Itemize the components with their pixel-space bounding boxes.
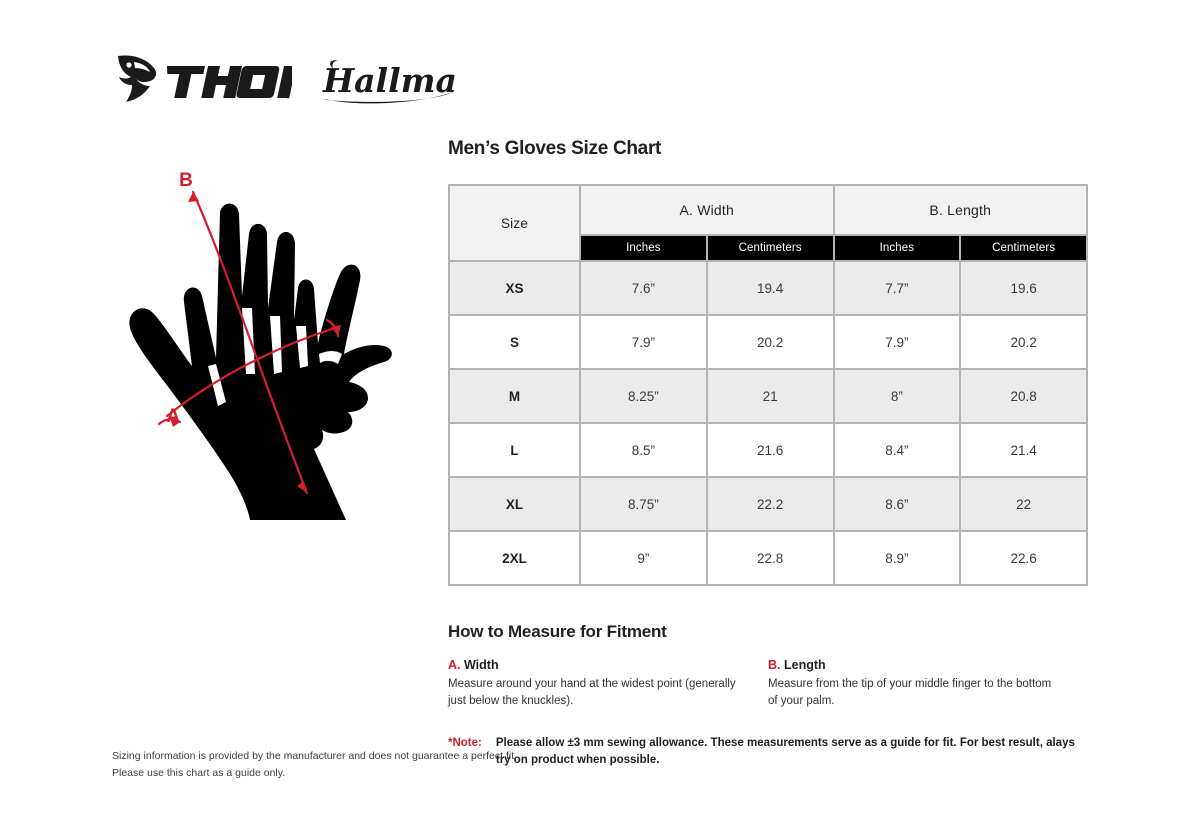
thor-helmet-icon xyxy=(118,56,156,103)
diagram-label-b: B xyxy=(179,170,193,191)
cell-length-centimeters: 20.2 xyxy=(960,315,1087,369)
column-header-size: Size xyxy=(449,185,580,261)
cell-width-inches: 7.6” xyxy=(580,261,707,315)
diagram-label-a: A xyxy=(166,406,180,427)
cell-width-centimeters: 20.2 xyxy=(707,315,834,369)
cell-width-inches: 8.25” xyxy=(580,369,707,423)
measure-name-a: Width xyxy=(464,658,499,672)
measure-item-width: A. Width Measure around your hand at the… xyxy=(448,658,768,709)
table-row: M 8.25” 21 8” 20.8 xyxy=(449,369,1087,423)
cell-width-centimeters: 19.4 xyxy=(707,261,834,315)
column-group-header-width: A. Width xyxy=(580,185,834,235)
table-row: 2XL 9” 22.8 8.9” 22.6 xyxy=(449,531,1087,585)
hallman-wordmark: Hallman xyxy=(322,61,457,100)
table-body: XS 7.6” 19.4 7.7” 19.6 S 7.9” 20.2 7.9” … xyxy=(449,261,1087,585)
cell-length-inches: 8.9” xyxy=(834,531,961,585)
column-header-width-inches: Inches xyxy=(580,235,707,261)
cell-length-inches: 7.7” xyxy=(834,261,961,315)
hand-silhouette xyxy=(129,204,392,520)
thor-logo xyxy=(112,52,292,110)
column-header-width-centimeters: Centimeters xyxy=(707,235,834,261)
table-row: L 8.5” 21.6 8.4” 21.4 xyxy=(449,423,1087,477)
column-group-header-length: B. Length xyxy=(834,185,1088,235)
cell-width-centimeters: 21.6 xyxy=(707,423,834,477)
cell-size: 2XL xyxy=(449,531,580,585)
cell-length-inches: 8.6” xyxy=(834,477,961,531)
cell-length-inches: 8” xyxy=(834,369,961,423)
how-to-measure-title: How to Measure for Fitment xyxy=(448,622,1088,642)
hallman-logo: Hallman xyxy=(317,54,457,108)
measure-letter-a: A. xyxy=(448,658,461,672)
measure-item-length: B. Length Measure from the tip of your m… xyxy=(768,658,1088,709)
arrow-b-tip-top xyxy=(188,192,199,202)
cell-width-centimeters: 21 xyxy=(707,369,834,423)
cell-length-inches: 7.9” xyxy=(834,315,961,369)
column-header-length-inches: Inches xyxy=(834,235,961,261)
footer-disclaimer: Sizing information is provided by the ma… xyxy=(112,748,632,782)
table-head: Size A. Width B. Length Inches Centimete… xyxy=(449,185,1087,261)
cell-width-centimeters: 22.8 xyxy=(707,531,834,585)
table-group-header-row: Size A. Width B. Length xyxy=(449,185,1087,235)
measure-letter-b: B. xyxy=(768,658,781,672)
column-header-length-centimeters: Centimeters xyxy=(960,235,1087,261)
cell-width-inches: 8.75” xyxy=(580,477,707,531)
cell-size: XL xyxy=(449,477,580,531)
cell-length-centimeters: 20.8 xyxy=(960,369,1087,423)
cell-size: S xyxy=(449,315,580,369)
measure-label-b: B. Length xyxy=(768,658,1058,673)
cell-length-centimeters: 22.6 xyxy=(960,531,1087,585)
cell-width-inches: 9” xyxy=(580,531,707,585)
thor-wordmark xyxy=(160,66,292,98)
table-row: S 7.9” 20.2 7.9” 20.2 xyxy=(449,315,1087,369)
measure-name-b: Length xyxy=(784,658,826,672)
cell-width-inches: 7.9” xyxy=(580,315,707,369)
table-row: XS 7.6” 19.4 7.7” 19.6 xyxy=(449,261,1087,315)
cell-length-inches: 8.4” xyxy=(834,423,961,477)
size-chart-content: Men’s Gloves Size Chart Size A. Width B.… xyxy=(448,138,1088,769)
cell-width-centimeters: 22.2 xyxy=(707,477,834,531)
cell-length-centimeters: 19.6 xyxy=(960,261,1087,315)
measure-text-b: Measure from the tip of your middle fing… xyxy=(768,676,1058,709)
cell-length-centimeters: 21.4 xyxy=(960,423,1087,477)
hand-measurement-diagram: A B xyxy=(122,168,432,530)
cell-size: XS xyxy=(449,261,580,315)
brand-logo-bar: Hallman xyxy=(112,52,532,114)
table-row: XL 8.75” 22.2 8.6” 22 xyxy=(449,477,1087,531)
cell-length-centimeters: 22 xyxy=(960,477,1087,531)
cell-width-inches: 8.5” xyxy=(580,423,707,477)
page-title: Men’s Gloves Size Chart xyxy=(448,138,1088,160)
cell-size: M xyxy=(449,369,580,423)
measure-text-a: Measure around your hand at the widest p… xyxy=(448,676,738,709)
measure-label-a: A. Width xyxy=(448,658,738,673)
footer-line-2: Please use this chart as a guide only. xyxy=(112,765,632,782)
size-chart-table: Size A. Width B. Length Inches Centimete… xyxy=(448,184,1088,586)
cell-size: L xyxy=(449,423,580,477)
how-to-measure-columns: A. Width Measure around your hand at the… xyxy=(448,658,1088,709)
footer-line-1: Sizing information is provided by the ma… xyxy=(112,748,632,765)
